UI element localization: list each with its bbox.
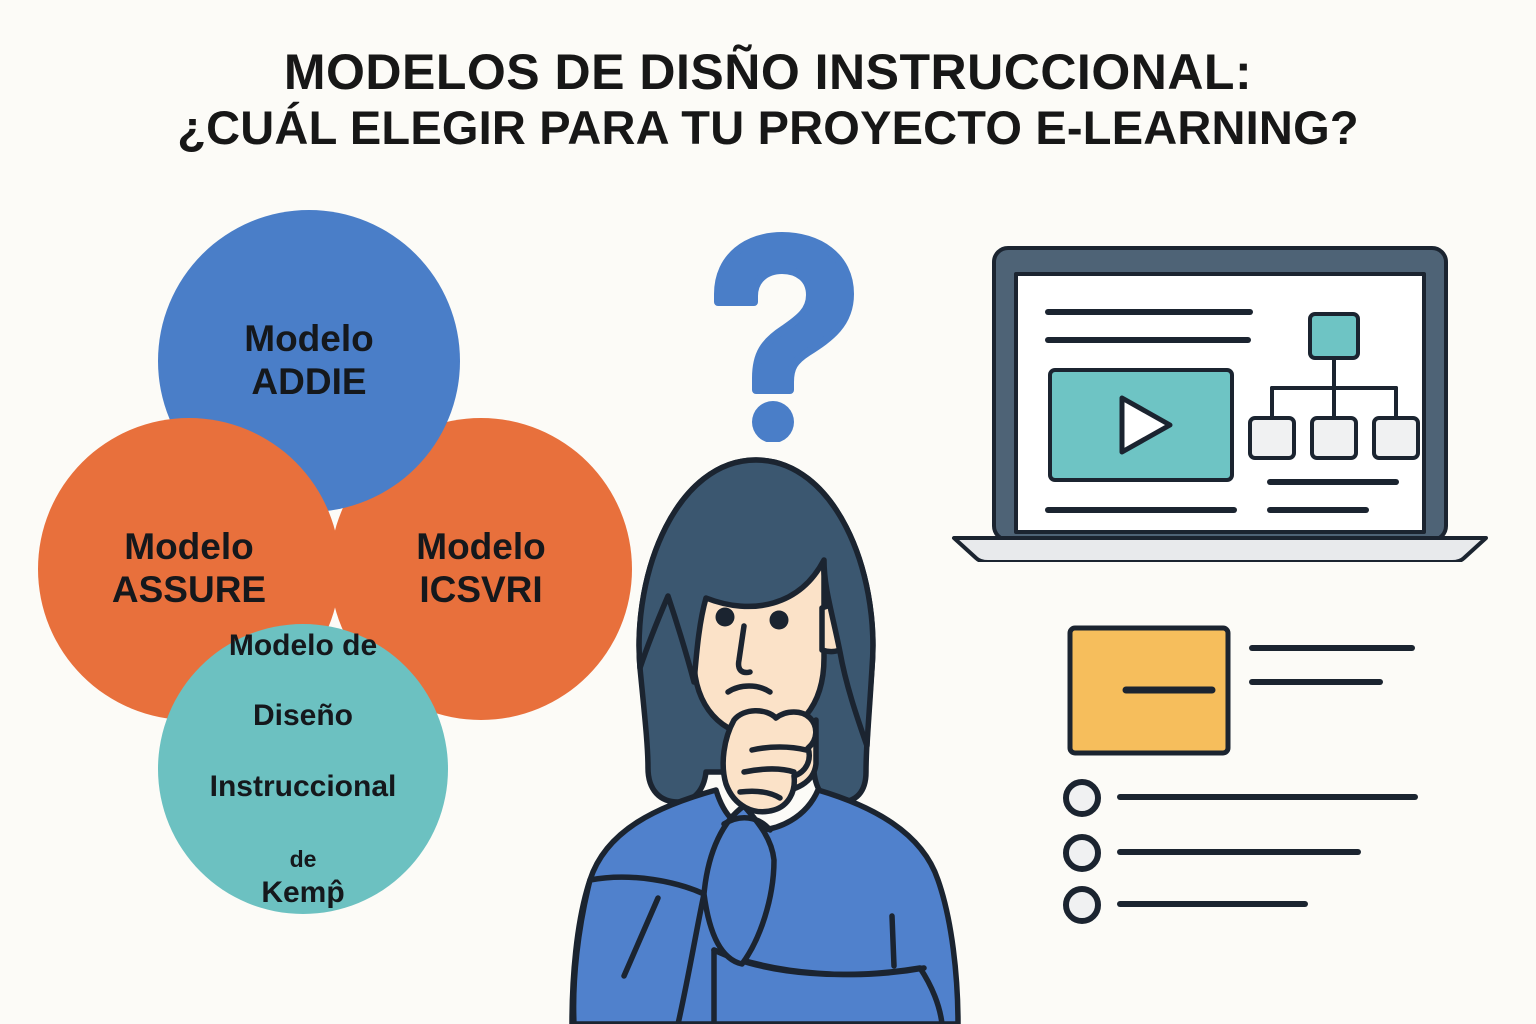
person-sleeve-left: [574, 877, 704, 1024]
org-node-child-3: [1374, 418, 1418, 458]
venn-diagram: Modelo ADDIE Modelo ICSVRI Modelo ASSURE…: [30, 196, 590, 936]
radio-circle-icon[interactable]: [1066, 837, 1098, 869]
person-eye-left: [716, 608, 735, 627]
radio-circle-icon[interactable]: [1066, 782, 1098, 814]
venn-label-kemp: Modelo de Diseño Instruccional de Kemp̂: [202, 593, 405, 945]
lower-right-content: [1040, 600, 1450, 930]
person-elbow-line: [892, 916, 894, 966]
org-node-root: [1310, 314, 1358, 358]
venn-label-addie: Modelo ADDIE: [236, 318, 381, 404]
page-title: MODELOS DE DISÑO INSTRUCCIONAL: ¿CUÁL EL…: [0, 44, 1536, 155]
org-node-child-1: [1250, 418, 1294, 458]
question-mark-icon: [690, 232, 880, 442]
person-finger-1: [752, 747, 806, 750]
person-eye-right: [770, 611, 789, 630]
venn-circle-kemp[interactable]: Modelo de Diseño Instruccional de Kemp̂: [158, 624, 448, 914]
laptop-elearning-illustration: [940, 232, 1500, 562]
infographic-poster: MODELOS DE DISÑO INSTRUCCIONAL: ¿CUÁL EL…: [0, 0, 1536, 1024]
person-hand: [723, 711, 816, 812]
venn-label-kemp-line3: Instruccional: [210, 770, 397, 803]
title-line-2: ¿CUÁL ELEGIR PARA TU PROYECTO E-LEARNING…: [0, 100, 1536, 155]
person-finger-2: [744, 769, 794, 772]
venn-label-kemp-line4-kemp: Kemp̂: [261, 876, 344, 909]
org-node-child-2: [1312, 418, 1356, 458]
venn-label-icsvri: Modelo ICSVRI: [408, 526, 553, 612]
laptop-base: [954, 538, 1486, 562]
venn-label-kemp-line2: Diseño: [253, 699, 353, 732]
venn-label-kemp-line4-de: de: [290, 846, 317, 872]
radio-circle-icon[interactable]: [1066, 889, 1098, 921]
title-line-1: MODELOS DE DISÑO INSTRUCCIONAL:: [0, 44, 1536, 100]
venn-label-kemp-line1: Modelo de: [229, 629, 377, 662]
